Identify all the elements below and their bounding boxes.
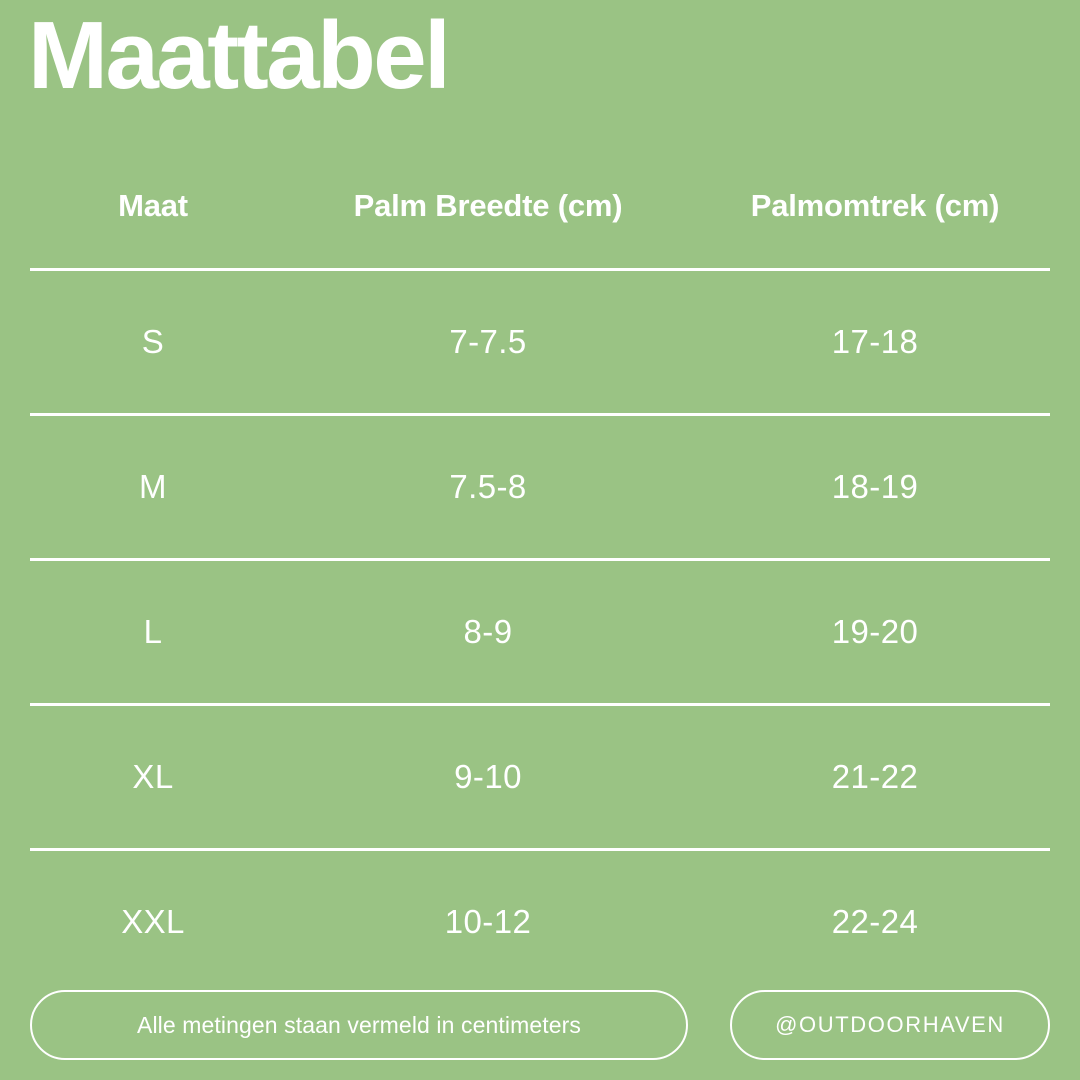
size-chart-poster: Maattabel Maat Palm Breedte (cm) Palmomt… (0, 0, 1080, 1080)
social-handle-pill: @OUTDOORHAVEN (730, 990, 1050, 1060)
table-row: XL 9-10 21-22 (30, 705, 1050, 850)
table-row: L 8-9 19-20 (30, 560, 1050, 705)
column-header-size: Maat (30, 160, 276, 270)
cell-width: 7.5-8 (276, 415, 700, 560)
table-body: S 7-7.5 17-18 M 7.5-8 18-19 L 8-9 19-20 … (30, 270, 1050, 994)
column-header-girth: Palmomtrek (cm) (700, 160, 1050, 270)
table-header-row: Maat Palm Breedte (cm) Palmomtrek (cm) (30, 160, 1050, 270)
cell-width: 8-9 (276, 560, 700, 705)
cell-girth: 17-18 (700, 270, 1050, 415)
measurement-note-pill: Alle metingen staan vermeld in centimete… (30, 990, 688, 1060)
table-row: XXL 10-12 22-24 (30, 850, 1050, 994)
table-row: S 7-7.5 17-18 (30, 270, 1050, 415)
page-title: Maattabel (28, 4, 448, 108)
cell-size: XXL (30, 850, 276, 994)
cell-width: 9-10 (276, 705, 700, 850)
cell-girth: 21-22 (700, 705, 1050, 850)
cell-size: L (30, 560, 276, 705)
table-row: M 7.5-8 18-19 (30, 415, 1050, 560)
cell-width: 10-12 (276, 850, 700, 994)
table-header: Maat Palm Breedte (cm) Palmomtrek (cm) (30, 160, 1050, 270)
cell-size: S (30, 270, 276, 415)
cell-width: 7-7.5 (276, 270, 700, 415)
column-header-width: Palm Breedte (cm) (276, 160, 700, 270)
cell-size: M (30, 415, 276, 560)
cell-girth: 19-20 (700, 560, 1050, 705)
cell-size: XL (30, 705, 276, 850)
cell-girth: 18-19 (700, 415, 1050, 560)
cell-girth: 22-24 (700, 850, 1050, 994)
footer: Alle metingen staan vermeld in centimete… (30, 990, 1050, 1060)
size-table: Maat Palm Breedte (cm) Palmomtrek (cm) S… (30, 160, 1050, 993)
